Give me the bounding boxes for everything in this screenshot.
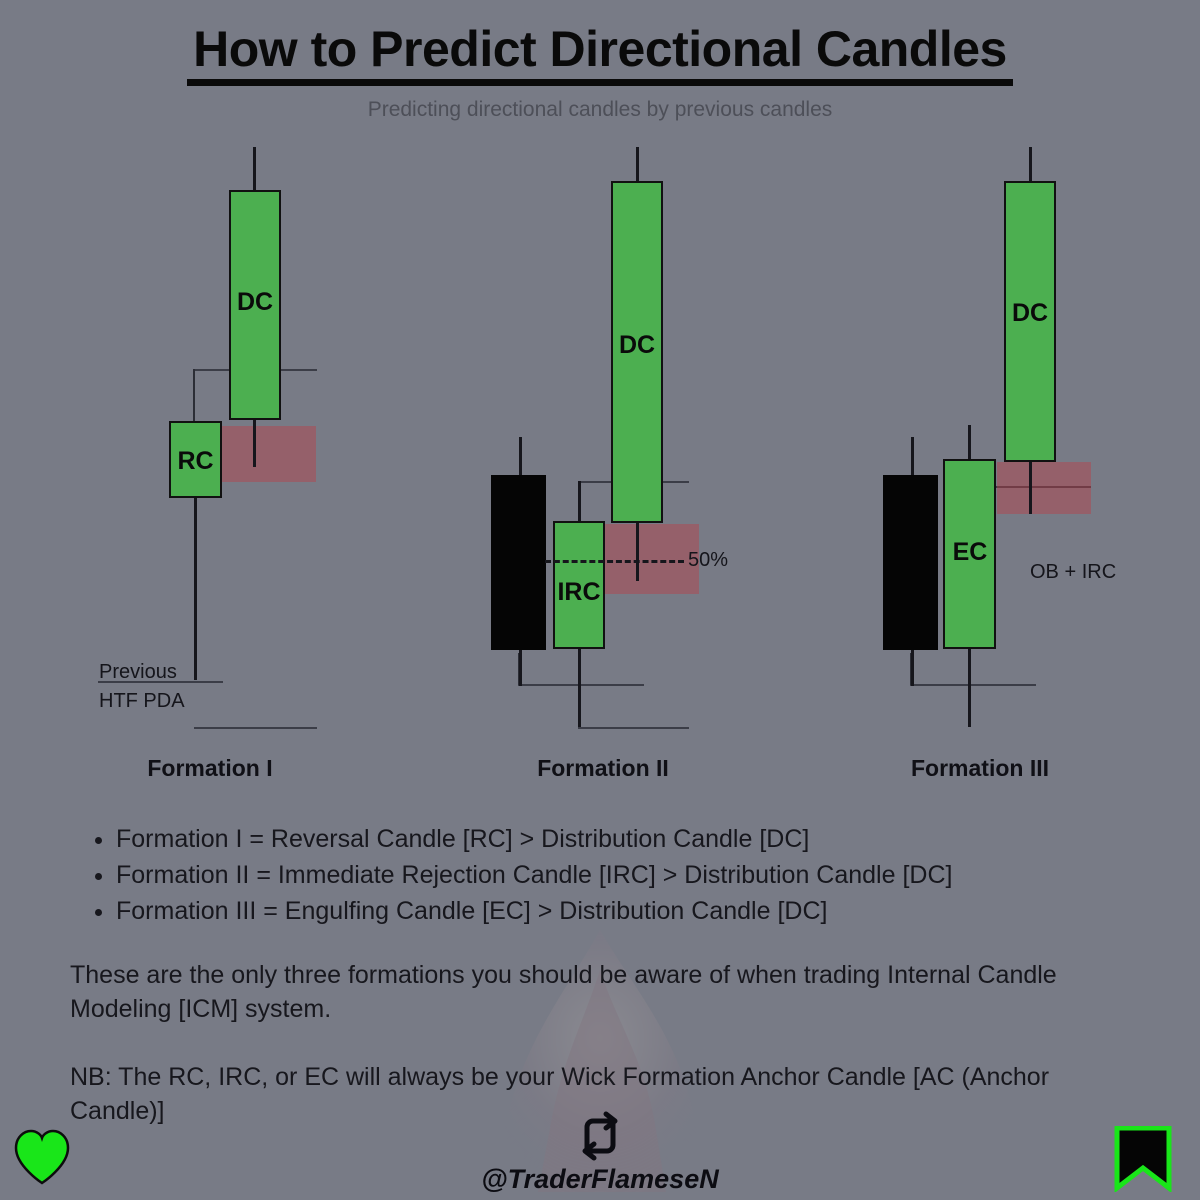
paragraph-summary: These are the only three formations you …: [70, 958, 1130, 1026]
f3-bear-upper-wick: [911, 437, 914, 476]
f2-dc-label: DC: [611, 331, 663, 360]
f1-previous-htf-pda-annotation: Previous HTF PDA: [99, 658, 185, 716]
repost-icon[interactable]: [573, 1110, 627, 1162]
f3-order-block-zone: [997, 462, 1091, 514]
f1-pda-lower-line: [194, 727, 317, 729]
formation-1-label: Formation I: [147, 755, 272, 782]
f1-dc-upper-wick: [253, 147, 256, 192]
f1-dc-lower-wick: [253, 419, 256, 467]
f2-bottom-upper-line: [518, 684, 644, 686]
f3-prior-bearish-candle: [883, 475, 938, 650]
f3-dc-upper-wick: [1029, 147, 1032, 183]
list-item: Formation I = Reversal Candle [RC] > Dis…: [116, 822, 1128, 856]
f3-ec-label: EC: [936, 538, 1004, 567]
f2-bear-upper-wick: [519, 437, 522, 476]
footer-center: @TraderFlameseN: [0, 1110, 1200, 1195]
list-item: Formation II = Immediate Rejection Candl…: [116, 858, 1128, 892]
bookmark-icon[interactable]: [1112, 1126, 1174, 1192]
f3-ec-lower-wick: [968, 648, 971, 727]
f1-dc-label: DC: [229, 288, 281, 317]
formation-3-label: Formation III: [911, 755, 1049, 782]
f3-bottom-upper-line: [910, 684, 1036, 686]
f2-fifty-percent-line: [545, 560, 684, 563]
account-handle[interactable]: @TraderFlameseN: [0, 1164, 1200, 1195]
f2-order-block-zone: [605, 524, 699, 594]
formation-2-label: Formation II: [537, 755, 669, 782]
f3-dc-label: DC: [1004, 299, 1056, 328]
f1-order-block-zone: [222, 426, 316, 482]
f3-bear-lower-wick: [911, 648, 914, 686]
f2-dc-lower-wick: [636, 521, 639, 581]
f2-fifty-percent-label: 50%: [688, 549, 728, 572]
formation-definitions-list: Formation I = Reversal Candle [RC] > Dis…: [88, 822, 1128, 930]
bullet-list: Formation I = Reversal Candle [RC] > Dis…: [88, 822, 1128, 928]
f3-ob-irc-annotation: OB + IRC: [1030, 561, 1116, 584]
f2-irc-upper-wick: [578, 481, 581, 522]
pda-line-1: Previous: [99, 658, 185, 687]
f2-irc-lower-wick: [578, 648, 581, 727]
f2-bear-lower-wick: [519, 648, 522, 686]
pda-line-2: HTF PDA: [99, 687, 185, 716]
f1-rc-label: RC: [169, 447, 222, 476]
list-item: Formation III = Engulfing Candle [EC] > …: [116, 894, 1128, 928]
f3-ec-upper-wick: [968, 425, 971, 460]
f3-dc-lower-wick: [1029, 460, 1032, 514]
f2-bottom-lower-line: [578, 727, 689, 729]
f2-irc-label: IRC: [545, 578, 613, 607]
f2-prior-bearish-candle: [491, 475, 546, 650]
f2-dc-upper-wick: [636, 147, 639, 183]
